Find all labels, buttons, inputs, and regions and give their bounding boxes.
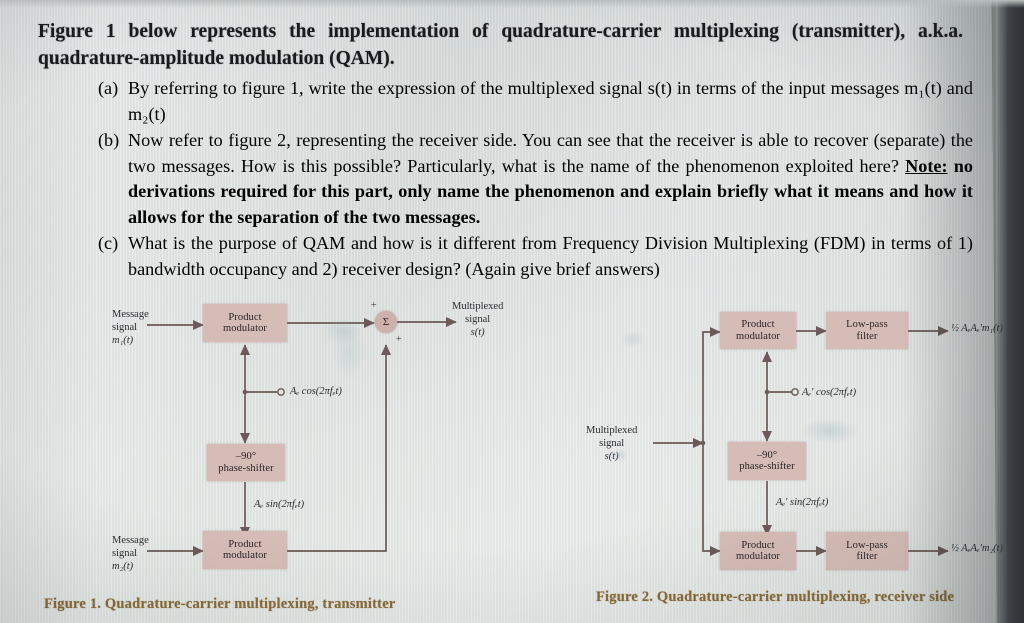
figure-1-product-modulator-bottom: Product modulator [203,531,287,569]
page-right-edge-shadow [998,0,1024,623]
figure-2-lowpass-filter-top: Low-pass filter [826,312,908,349]
figure-2-lowpass-filter-bottom: Low-pass filter [826,532,908,570]
figure-1-summing-junction: Σ [375,311,397,333]
figure-2-carrier-cosine-label: Aₑ' cos(2πfₑt) [802,386,856,399]
figure-2-output-bottom-label: ½ AₑAₑ'm₂(t) [951,542,1003,555]
figure-1-input-1-label: Message signal m₁(t) [112,308,149,347]
figure-1-product-modulator-top: Product modulator [203,304,287,342]
figure-2-product-modulator-bottom: Product modulator [720,532,796,570]
figure-1-output-label: Multiplexed signal s(t) [452,300,503,339]
figure-1-summer-plus-bottom: + [396,334,402,345]
page-content: Figure 1 below represents the implementa… [0,0,1024,623]
figure-1-input-2-label: Message signal m₂(t) [112,534,149,573]
figure-2-output-top-label: ½ AₑAₑ'm₁(t) [951,322,1003,335]
figure-1-phase-shifter: –90° phase-shifter [207,444,285,481]
figure-1-carrier-sine-label: Aₑ sin(2πfₑt) [254,498,304,511]
figure-2-input-label: Multiplexed signal s(t) [586,424,637,463]
figure-1-transmitter-diagram: Message signal m₁(t) Product modulator Σ… [0,0,520,623]
page-top-edge [0,0,1024,8]
figure-1-caption: Figure 1. Quadrature-carrier multiplexin… [44,596,396,613]
figure-1-summer-plus-top: + [371,300,377,311]
figure-1-carrier-cosine-label: Aₑ cos(2πfₑt) [290,385,342,398]
figure-2-carrier-sine-label: Aₑ' sin(2πfₑt) [776,496,828,509]
photographed-worksheet-page: Figure 1 below represents the implementa… [0,0,1024,623]
figure-2-receiver-diagram: Multiplexed signal s(t) Product modulato… [520,0,1024,623]
figure-2-product-modulator-top: Product modulator [720,312,796,349]
figure-2-caption: Figure 2. Quadrature-carrier multiplexin… [596,589,954,606]
figure-2-phase-shifter: –90° phase-shifter [728,442,806,480]
